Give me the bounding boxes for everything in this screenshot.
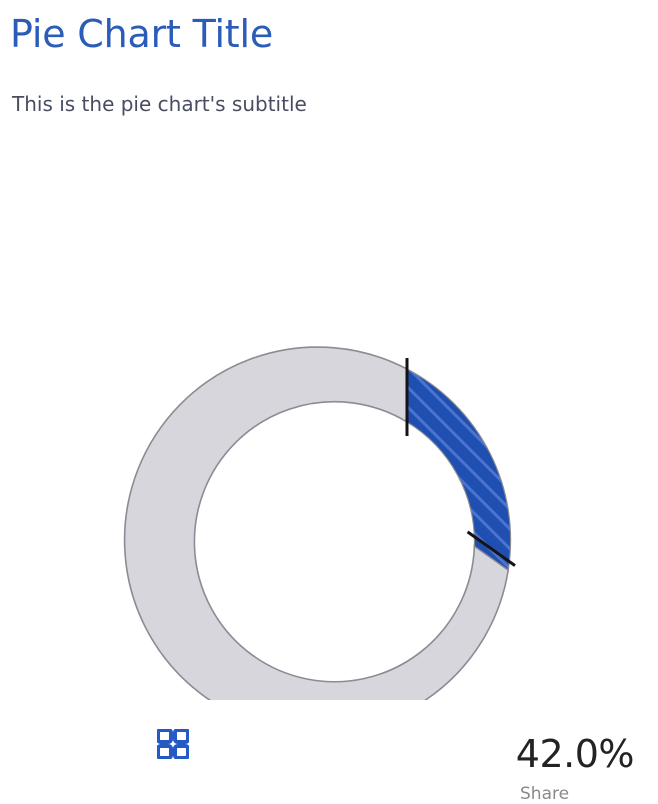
grid-icon <box>157 729 189 759</box>
donut-chart <box>0 140 658 700</box>
page-subtitle: This is the pie chart's subtitle <box>12 92 307 116</box>
value-percentage: 42.0% <box>470 735 646 773</box>
value-callout: 42.0% Share <box>470 735 646 803</box>
chart-plot-area: 42.0% Share <box>0 140 658 700</box>
value-series-label: Share <box>470 786 646 803</box>
pie-slice-share[interactable] <box>407 369 511 570</box>
grid-view-button[interactable] <box>157 729 189 759</box>
page-title: Pie Chart Title <box>10 14 273 56</box>
pie-chart-page: Pie Chart Title This is the pie chart's … <box>0 0 658 786</box>
